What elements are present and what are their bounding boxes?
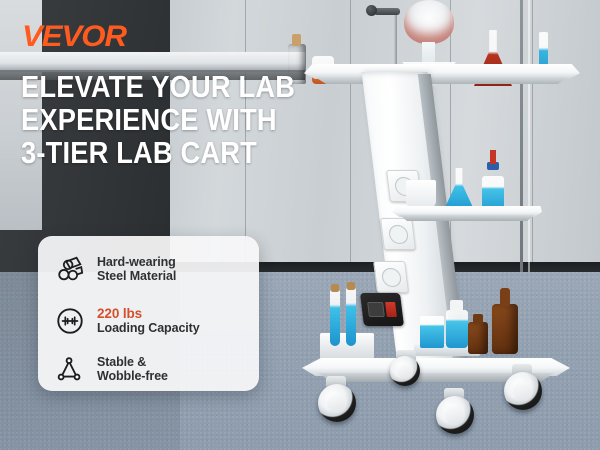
amber-bottle-large-stopper xyxy=(500,288,510,306)
bottle-red-stopper xyxy=(490,150,496,164)
brand-logo: VEVOR xyxy=(22,22,126,52)
test-tube-cork xyxy=(347,282,355,290)
feature-item-capacity: 220 lbs Loading Capacity xyxy=(55,306,200,336)
feature-stability-line1: Stable & xyxy=(97,355,168,370)
bottle-white-cap xyxy=(450,300,463,312)
feature-capacity-value: 220 lbs xyxy=(97,307,200,322)
test-tube-blue xyxy=(346,288,356,346)
headline-line-1: ELEVATE YOUR LAB xyxy=(21,70,303,103)
feature-item-steel: Hard-wearing Steel Material xyxy=(55,254,176,284)
separatory-funnel xyxy=(404,0,454,44)
shelf-top xyxy=(304,64,580,79)
feature-steel-line1: Hard-wearing xyxy=(97,255,176,270)
test-tube-cork xyxy=(331,284,339,292)
feature-capacity-label: Loading Capacity xyxy=(97,321,200,336)
feature-stability-line2: Wobble-free xyxy=(97,369,168,384)
round-bottle-blue xyxy=(446,310,468,348)
steel-tubes-icon xyxy=(55,254,85,284)
power-inlet-switch xyxy=(360,293,404,326)
feature-item-stability: Stable & Wobble-free xyxy=(55,354,168,384)
amber-bottle-top-cap xyxy=(292,34,301,46)
shelf-middle-edge xyxy=(392,215,542,221)
headline-line-3: 3-TIER LAB CART xyxy=(21,136,303,169)
weight-capacity-icon xyxy=(55,306,85,336)
headline-line-2: EXPERIENCE WITH xyxy=(21,103,303,136)
caster-wheel xyxy=(390,356,420,386)
white-beaker xyxy=(406,180,436,208)
headline: ELEVATE YOUR LAB EXPERIENCE WITH 3-TIER … xyxy=(21,70,303,169)
caster-wheel xyxy=(318,384,356,422)
feature-steel-line2: Steel Material xyxy=(97,269,176,284)
amber-bottle-small-cap xyxy=(473,314,483,324)
power-socket xyxy=(380,218,416,250)
feature-card: Hard-wearing Steel Material 2 xyxy=(38,236,259,391)
power-socket xyxy=(373,261,409,293)
amber-bottle-small xyxy=(468,322,488,354)
amber-bottle-large xyxy=(492,304,518,354)
tripod-stability-icon xyxy=(55,354,85,384)
caster-wheel xyxy=(436,396,474,434)
test-tube-blue xyxy=(330,290,340,346)
ad-banner: VEVOR ELEVATE YOUR LAB EXPERIENCE WITH 3… xyxy=(0,0,600,450)
lab-cart xyxy=(296,58,586,450)
shelf-top-edge xyxy=(304,77,580,84)
square-bottle-blue xyxy=(420,316,444,348)
caster-wheel xyxy=(504,372,542,410)
